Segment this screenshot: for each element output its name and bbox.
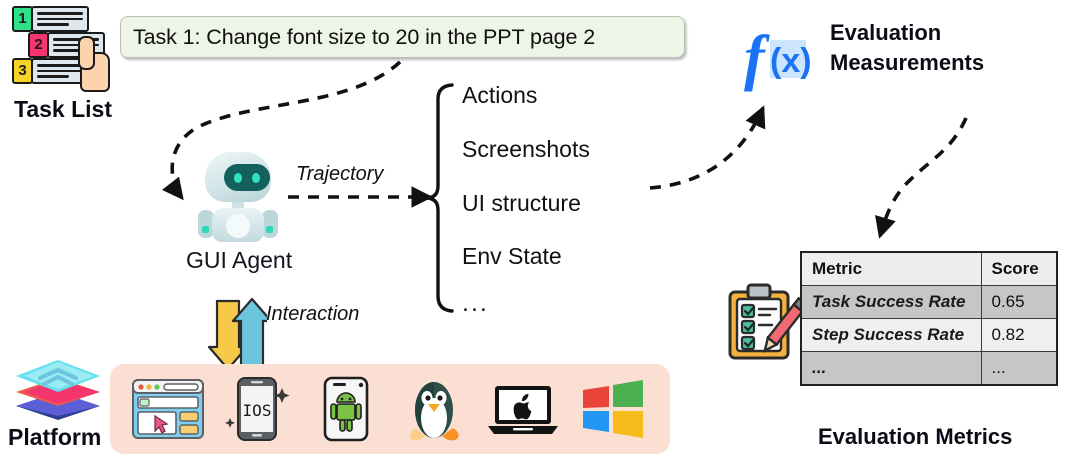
ios-phone-icon: IOS xyxy=(220,376,294,442)
macos-laptop-icon xyxy=(486,376,560,442)
task-list-row-1: 1 xyxy=(12,6,89,32)
task-list-label: Task List xyxy=(14,96,112,123)
trajectory-item-ellipsis: ... xyxy=(462,289,489,318)
task-card-1 xyxy=(31,6,89,32)
evaluation-measurements-label: Evaluation Measurements xyxy=(830,18,984,78)
metric-name: Step Success Rate xyxy=(801,319,981,352)
trajectory-label: Trajectory xyxy=(296,163,383,186)
task-number-3: 3 xyxy=(12,58,33,84)
metric-score: 0.82 xyxy=(981,319,1057,352)
clipboard-checklist-icon xyxy=(724,282,800,364)
table-row: ... ... xyxy=(801,352,1057,386)
linux-penguin-icon xyxy=(397,376,471,442)
metric-name: ... xyxy=(801,352,981,386)
trajectory-item-screenshots: Screenshots xyxy=(462,136,590,163)
trajectory-item-actions: Actions xyxy=(462,82,537,109)
diagram-canvas: 1 2 3 Task List Task 1: Change font size… xyxy=(0,0,1080,476)
table-header-metric: Metric xyxy=(801,252,981,286)
gui-agent-robot-icon xyxy=(196,152,280,244)
table-header-score: Score xyxy=(981,252,1057,286)
ios-label: IOS xyxy=(243,401,272,420)
task-number-1: 1 xyxy=(12,6,33,32)
evaluation-measurements-line-2: Measurements xyxy=(830,48,984,78)
evaluation-metrics-label: Evaluation Metrics xyxy=(818,424,1012,450)
table-row: Step Success Rate 0.82 xyxy=(801,319,1057,352)
android-phone-icon xyxy=(309,376,383,442)
windows-logo-icon xyxy=(575,376,649,442)
metric-name: Task Success Rate xyxy=(801,286,981,319)
task-description-text: Task 1: Change font size to 20 in the PP… xyxy=(133,25,595,50)
table-row: Task Success Rate 0.65 xyxy=(801,286,1057,319)
trajectory-to-evaluation-arrow xyxy=(650,108,763,188)
task-description-banner: Task 1: Change font size to 20 in the PP… xyxy=(120,16,685,58)
function-fx-icon: f (x) xyxy=(744,22,826,94)
interaction-label: Interaction xyxy=(266,303,359,326)
metric-score: ... xyxy=(981,352,1057,386)
trajectory-brace xyxy=(426,85,452,311)
evaluation-metrics-table: Metric Score Task Success Rate 0.65 Step… xyxy=(800,251,1058,386)
gui-agent-label: GUI Agent xyxy=(186,247,292,274)
metric-score: 0.65 xyxy=(981,286,1057,319)
trajectory-item-env-state: Env State xyxy=(462,243,562,270)
trajectory-item-ui-structure: UI structure xyxy=(462,190,581,217)
svg-text:f: f xyxy=(744,24,770,92)
browser-window-icon xyxy=(131,376,205,442)
interaction-arrows-icon xyxy=(205,295,267,373)
pointing-hand-icon xyxy=(74,34,108,90)
platform-label: Platform xyxy=(8,424,101,451)
evaluation-measurements-line-1: Evaluation xyxy=(830,18,984,48)
svg-text:(x): (x) xyxy=(770,42,812,80)
platform-layers-icon xyxy=(14,358,102,424)
task-list-icon: 1 2 3 xyxy=(12,6,120,94)
task-number-2: 2 xyxy=(28,32,49,58)
platform-strip: IOS xyxy=(110,364,670,454)
evaluation-to-metrics-arrow xyxy=(880,118,966,236)
table-header-row: Metric Score xyxy=(801,252,1057,286)
